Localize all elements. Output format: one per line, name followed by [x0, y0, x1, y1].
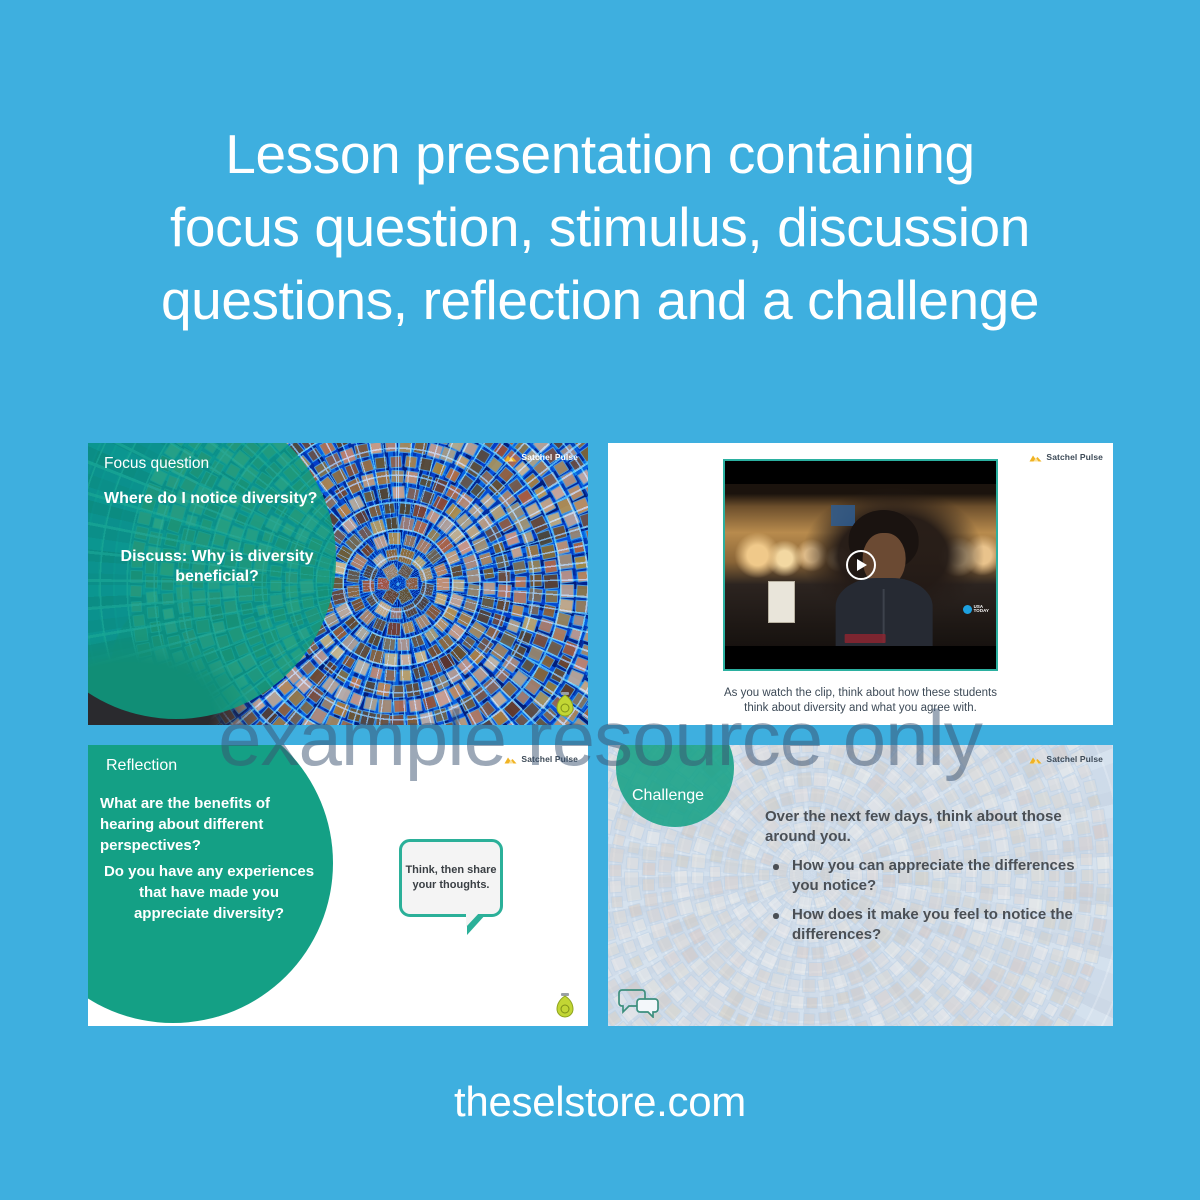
brand-logo: Satchel Pulse [1029, 754, 1103, 764]
reflection-question-primary: What are the benefits of hearing about d… [100, 793, 315, 856]
subject-red-detail [845, 634, 886, 644]
mountain-logo-icon [1029, 453, 1042, 462]
page-title: Lesson presentation containing focus que… [60, 118, 1140, 337]
challenge-body: Over the next few days, think about thos… [765, 807, 1075, 954]
video-bg-poster [768, 581, 795, 623]
stimulus-caption: As you watch the clip, think about how t… [648, 686, 1073, 716]
brand-logo: Satchel Pulse [504, 754, 578, 764]
mountain-logo-icon [504, 755, 517, 764]
stimulus-caption-line-2: think about diversity and what you agree… [648, 701, 1073, 716]
slide-label-reflection: Reflection [106, 757, 177, 775]
slide-stimulus[interactable]: USA TODAY As you watch the clip, think a… [608, 443, 1113, 725]
mountain-logo-icon [504, 453, 517, 462]
footer-url: theselstore.com [0, 1078, 1200, 1126]
slide-thumbnail-grid: Focus question Where do I notice diversi… [88, 443, 1113, 1026]
brand-name: Satchel Pulse [1046, 452, 1103, 462]
challenge-bullet: How you can appreciate the differences y… [765, 856, 1075, 896]
focus-question-primary: Where do I notice diversity? [104, 489, 319, 509]
stimulus-caption-line-1: As you watch the clip, think about how t… [648, 686, 1073, 701]
brand-name: Satchel Pulse [1046, 754, 1103, 764]
page-title-line-3: questions, reflection and a challenge [60, 264, 1140, 337]
brand-name: Satchel Pulse [521, 754, 578, 764]
slide-challenge[interactable]: Challenge Over the next few days, think … [608, 745, 1113, 1026]
mountain-logo-icon [1029, 755, 1042, 764]
slide-label-focus-question: Focus question [104, 455, 209, 473]
think-share-bubble: Think, then share your thoughts. [399, 839, 503, 917]
usa-today-line-2: TODAY [974, 609, 989, 614]
usa-today-dot-icon [963, 605, 972, 614]
focus-question-discuss: Discuss: Why is diversity beneficial? [112, 547, 322, 587]
think-share-bubble-text: Think, then share your thoughts. [402, 863, 500, 893]
video-player[interactable]: USA TODAY [723, 459, 998, 671]
slide-reflection[interactable]: Reflection What are the benefits of hear… [88, 745, 588, 1026]
brand-name: Satchel Pulse [521, 452, 578, 462]
challenge-bullet: How does it make you feel to notice the … [765, 905, 1075, 945]
slide-label-challenge: Challenge [632, 787, 704, 805]
challenge-intro: Over the next few days, think about thos… [765, 807, 1075, 847]
page-title-line-1: Lesson presentation containing [60, 118, 1140, 191]
reflection-question-secondary: Do you have any experiences that have ma… [100, 861, 318, 924]
play-triangle-icon [857, 559, 867, 571]
pear-badge-icon [554, 691, 576, 717]
video-source-watermark: USA TODAY [963, 605, 989, 614]
brand-logo: Satchel Pulse [1029, 452, 1103, 462]
pear-badge-icon [554, 992, 576, 1018]
slide-focus-question[interactable]: Focus question Where do I notice diversi… [88, 443, 588, 725]
page-title-line-2: focus question, stimulus, discussion [60, 191, 1140, 264]
speech-bubble-tail-inner [466, 912, 480, 927]
play-button-icon[interactable] [846, 550, 876, 580]
challenge-bullet-list: How you can appreciate the differences y… [765, 856, 1075, 945]
brand-logo: Satchel Pulse [504, 452, 578, 462]
video-subject [835, 510, 933, 646]
speech-bubbles-icon [618, 986, 660, 1018]
